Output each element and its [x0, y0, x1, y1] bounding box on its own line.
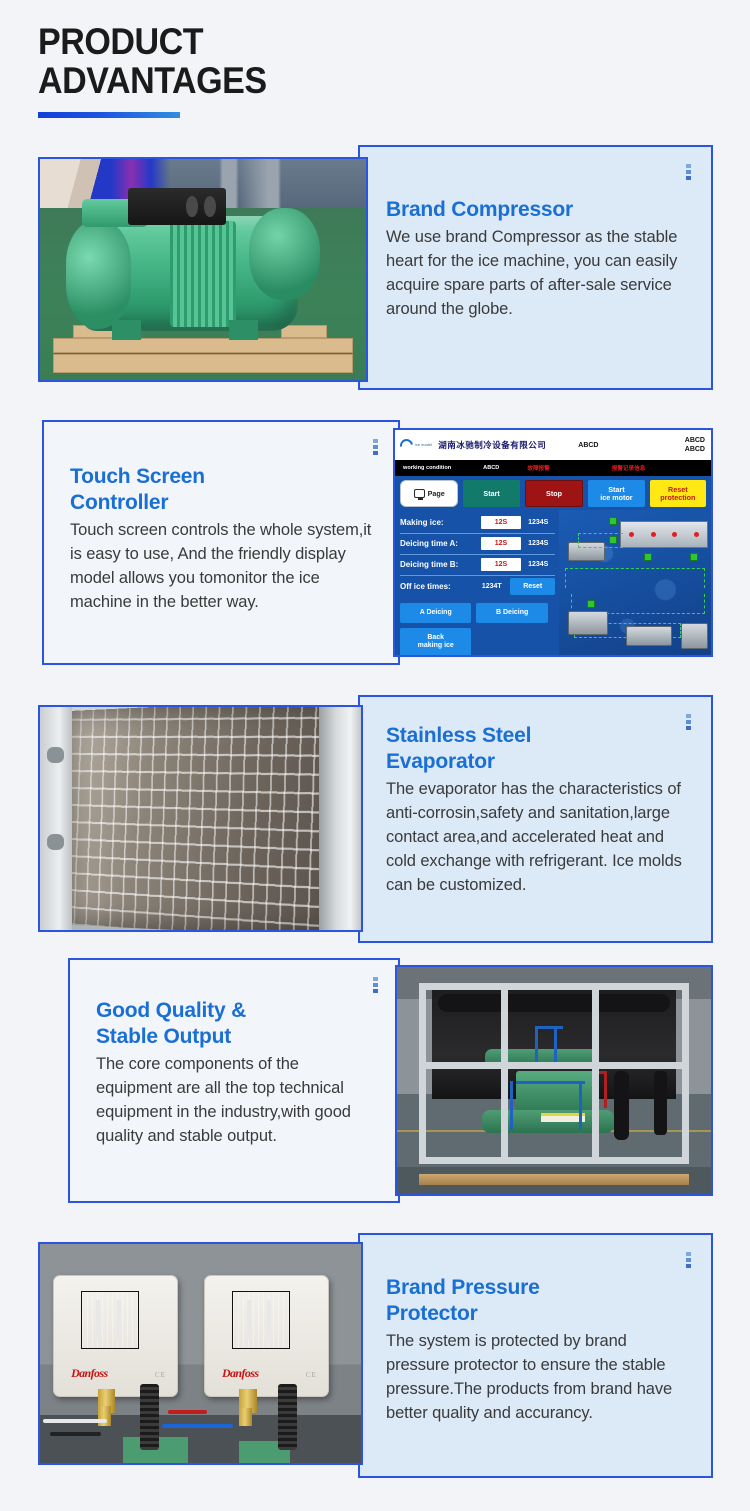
- page-title: PRODUCT ADVANTAGES: [38, 22, 267, 100]
- off-ice-value: 1234T: [473, 580, 510, 593]
- hmi-start-button[interactable]: Start: [463, 480, 519, 507]
- hmi-header-right-line2: ABCD: [685, 445, 705, 454]
- schematic-motor: [681, 623, 708, 649]
- page-header: PRODUCT ADVANTAGES: [38, 22, 287, 118]
- more-options-icon[interactable]: [686, 1252, 691, 1268]
- pressure-switch-right: Danfoss CE: [204, 1275, 329, 1398]
- ce-mark: CE: [306, 1371, 317, 1379]
- stainless-steel-evaporator-photo: [38, 705, 363, 932]
- more-options-icon[interactable]: [686, 164, 691, 180]
- hmi-field-row: Deicing time B: 12S 1234S: [400, 555, 555, 576]
- hmi-header-center: ABCD: [578, 442, 598, 449]
- schematic-pipe: [565, 568, 705, 588]
- card-title: Good Quality & Stable Output: [96, 998, 378, 1050]
- schematic-manifold: [620, 521, 708, 547]
- advantage-card-4[interactable]: Good Quality & Stable Output The core co…: [68, 958, 400, 1203]
- hmi-field-row: Making ice: 12S 1234S: [400, 513, 555, 534]
- hmi-a-deicing-button[interactable]: A Deicing: [400, 603, 471, 623]
- hmi-stop-button[interactable]: Stop: [525, 480, 583, 507]
- advantage-row-2: Touch Screen Controller Touch screen con…: [0, 420, 750, 665]
- advantage-card-1[interactable]: Brand Compressor We use brand Compressor…: [358, 145, 713, 390]
- field-unit: 1234S: [521, 519, 555, 526]
- brand-pressure-protector-photo: Danfoss CE Danfoss CE: [38, 1242, 363, 1465]
- off-ice-label: Off ice times:: [400, 582, 473, 591]
- ice-machine-skid-photo: [395, 965, 713, 1196]
- hmi-off-ice-row: Off ice times: 1234T Reset: [400, 576, 555, 597]
- field-value[interactable]: 12S: [481, 516, 521, 529]
- more-options-icon[interactable]: [686, 714, 691, 730]
- hmi-start-ice-motor-button[interactable]: Start ice motor: [588, 480, 644, 507]
- more-options-icon[interactable]: [373, 439, 378, 455]
- advantage-card-2[interactable]: Touch Screen Controller Touch screen con…: [42, 420, 400, 665]
- card-body: We use brand Compressor as the stable he…: [386, 225, 691, 321]
- field-label: Deicing time B:: [400, 560, 481, 569]
- field-label: Making ice:: [400, 518, 481, 527]
- hmi-button-row: Page Start Stop Start ice motor Reset pr…: [395, 476, 711, 510]
- status-alarm-2: 报警记录信息: [612, 464, 646, 472]
- hmi-screen: ice model 湖南冰驰制冷设备有限公司 ABCD ABCD ABCD wo…: [395, 430, 711, 655]
- touch-screen-controller-photo: ice model 湖南冰驰制冷设备有限公司 ABCD ABCD ABCD wo…: [393, 428, 713, 657]
- status-alarm-1: 故障报警: [527, 464, 549, 472]
- title-underline-rule: [38, 112, 180, 118]
- advantage-row-3: Stainless Steel Evaporator The evaporato…: [0, 695, 750, 943]
- hmi-parameter-panel: Making ice: 12S 1234S Deicing time A: 12…: [395, 510, 559, 655]
- hmi-status-bar: working condition ABCD 故障报警 报警记录信息: [395, 460, 711, 476]
- field-value[interactable]: 12S: [481, 537, 521, 550]
- monitor-icon: [414, 489, 425, 498]
- card-title: Brand Compressor: [386, 197, 691, 223]
- danfoss-logo: Danfoss: [222, 1366, 258, 1381]
- hmi-small-button-group: A Deicing B Deicing Back making ice: [400, 603, 555, 655]
- company-name: 湖南冰驰制冷设备有限公司: [438, 439, 546, 451]
- hmi-reset-button[interactable]: Reset: [510, 578, 555, 595]
- hmi-header: ice model 湖南冰驰制冷设备有限公司 ABCD ABCD ABCD: [395, 430, 711, 460]
- advantage-row-5: Brand Pressure Protector The system is p…: [0, 1233, 750, 1478]
- hmi-reset-protection-button[interactable]: Reset protection: [650, 480, 706, 507]
- hmi-main-area: Making ice: 12S 1234S Deicing time A: 12…: [395, 510, 711, 655]
- hmi-page-button[interactable]: Page: [400, 480, 458, 507]
- schematic-motor: [626, 626, 672, 646]
- ce-mark: CE: [155, 1371, 166, 1379]
- danfoss-logo: Danfoss: [71, 1366, 107, 1381]
- hmi-field-row: Deicing time A: 12S 1234S: [400, 534, 555, 555]
- hmi-b-deicing-button[interactable]: B Deicing: [476, 603, 547, 623]
- brand-compressor-photo: [38, 157, 368, 382]
- product-advantages-page: PRODUCT ADVANTAGES Brand Compressor We u…: [0, 0, 750, 1511]
- card-body: The core components of the equipment are…: [96, 1052, 378, 1148]
- status-value: ABCD: [483, 465, 499, 471]
- ice-model-logo-icon: ice model: [400, 439, 432, 452]
- schematic-motor: [568, 611, 607, 634]
- advantage-card-5[interactable]: Brand Pressure Protector The system is p…: [358, 1233, 713, 1478]
- card-body: The evaporator has the characteristics o…: [386, 777, 691, 897]
- field-unit: 1234S: [521, 561, 555, 568]
- more-options-icon[interactable]: [373, 977, 378, 993]
- field-label: Deicing time A:: [400, 539, 481, 548]
- hmi-page-label: Page: [428, 490, 445, 498]
- field-unit: 1234S: [521, 540, 555, 547]
- card-title: Stainless Steel Evaporator: [386, 723, 691, 775]
- advantage-row-1: Brand Compressor We use brand Compressor…: [0, 145, 750, 390]
- card-body: Touch screen controls the whole system,i…: [70, 518, 378, 614]
- card-body: The system is protected by brand pressur…: [386, 1329, 691, 1425]
- hmi-header-right: ABCD ABCD: [685, 436, 705, 454]
- advantage-card-3[interactable]: Stainless Steel Evaporator The evaporato…: [358, 695, 713, 943]
- card-title: Brand Pressure Protector: [386, 1275, 691, 1327]
- hmi-process-schematic: [559, 510, 711, 655]
- advantage-row-4: Good Quality & Stable Output The core co…: [0, 958, 750, 1203]
- status-label: working condition: [403, 465, 451, 471]
- pressure-switch-left: Danfoss CE: [53, 1275, 178, 1398]
- logo-text: ice model: [415, 443, 432, 447]
- hmi-header-right-line1: ABCD: [685, 436, 705, 445]
- card-title: Touch Screen Controller: [70, 464, 378, 516]
- field-value[interactable]: 12S: [481, 558, 521, 571]
- hmi-back-making-ice-button[interactable]: Back making ice: [400, 628, 471, 655]
